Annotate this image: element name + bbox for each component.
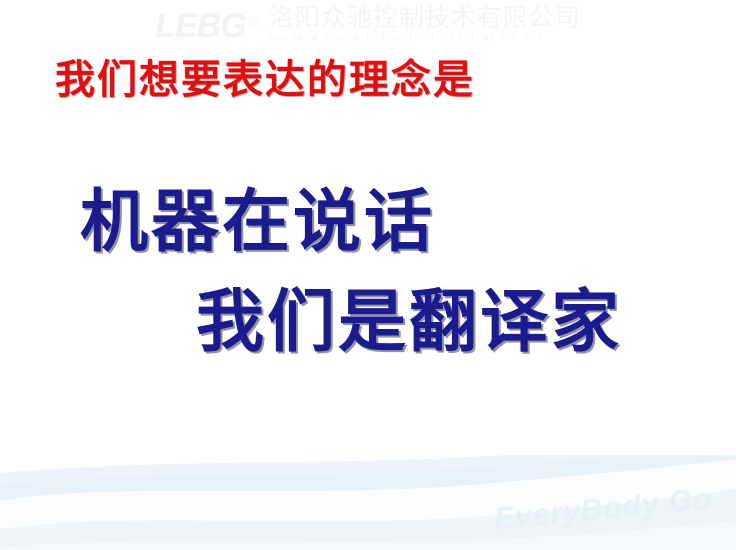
wave-band-back [0,455,736,550]
logo-wordmark: LEBG [155,9,245,43]
slide-body-line-1: 机器在说话 [80,188,435,256]
company-name-block: 洛阳众驰控制技术有限公司 LuoYang Zhongchi Control Te… [269,6,581,46]
company-logo: LEBG ® [155,9,259,43]
slide-headline: 我们想要表达的理念是 [55,58,475,102]
registered-trademark-icon: ® [248,15,259,30]
presentation-slide: LEBG ® 洛阳众驰控制技术有限公司 LuoYang Zhongchi Con… [0,0,736,550]
wave-band-blue [0,455,736,550]
wave-band-base [0,521,736,550]
wave-band-white [0,459,736,550]
footer-watermark-text: EveryBody Go [493,482,714,537]
wave-band-front [0,489,736,550]
header-watermark: LEBG ® 洛阳众驰控制技术有限公司 LuoYang Zhongchi Con… [0,0,736,52]
company-name-english: LuoYang Zhongchi Control Technology Co.,… [269,33,581,44]
slide-body-line-2: 我们是翻译家 [196,288,622,356]
company-name-chinese: 洛阳众驰控制技术有限公司 [269,6,581,32]
footer-wave-decoration [0,455,736,550]
